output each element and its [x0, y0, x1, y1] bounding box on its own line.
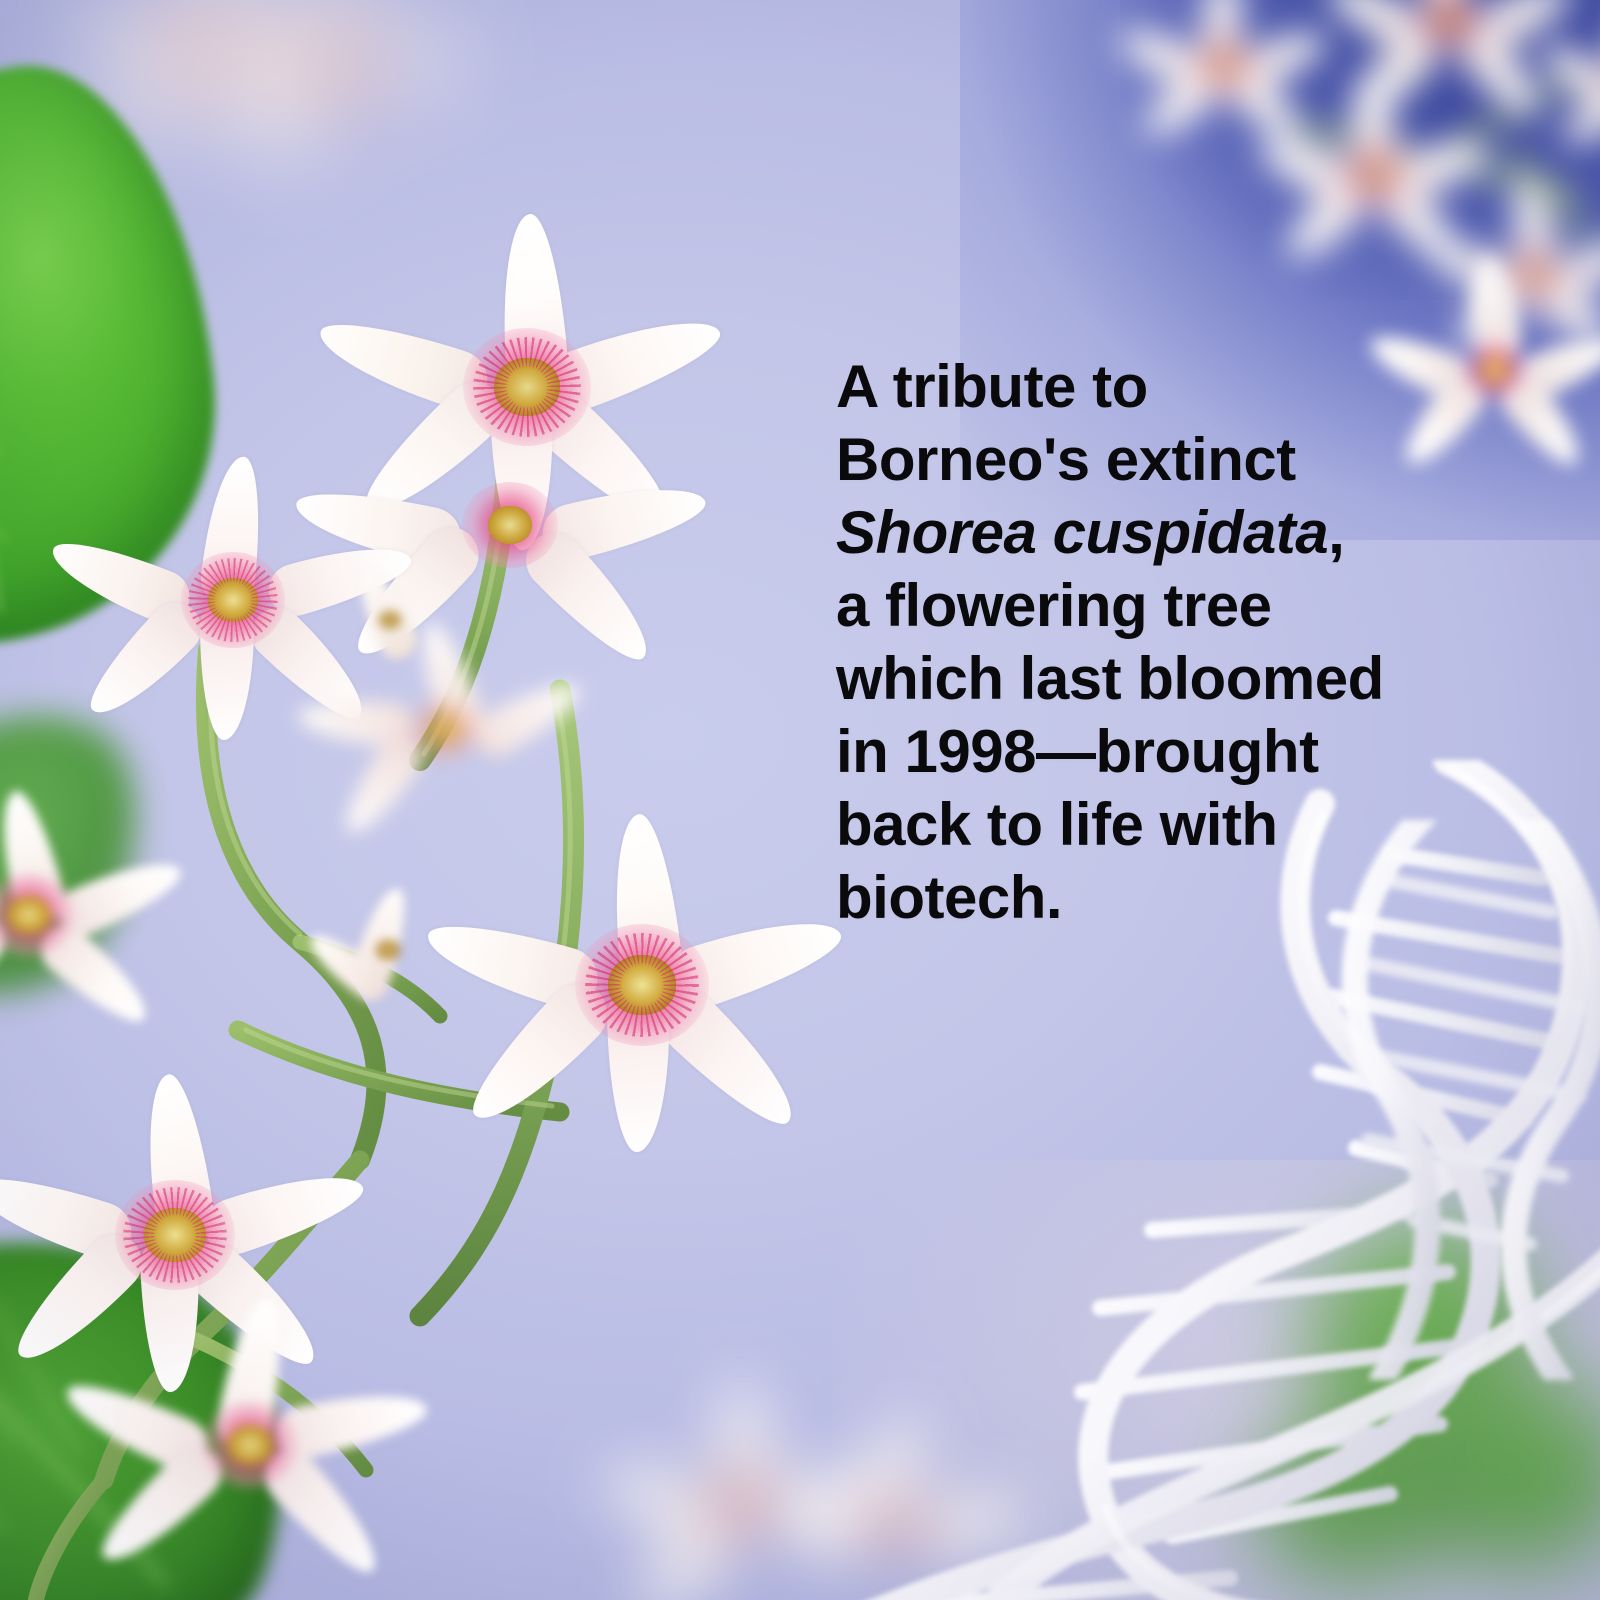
- vignette-overlay: [0, 0, 1600, 1600]
- scene-canvas: A tribute to Borneo's extinct Shorea cus…: [0, 0, 1600, 1600]
